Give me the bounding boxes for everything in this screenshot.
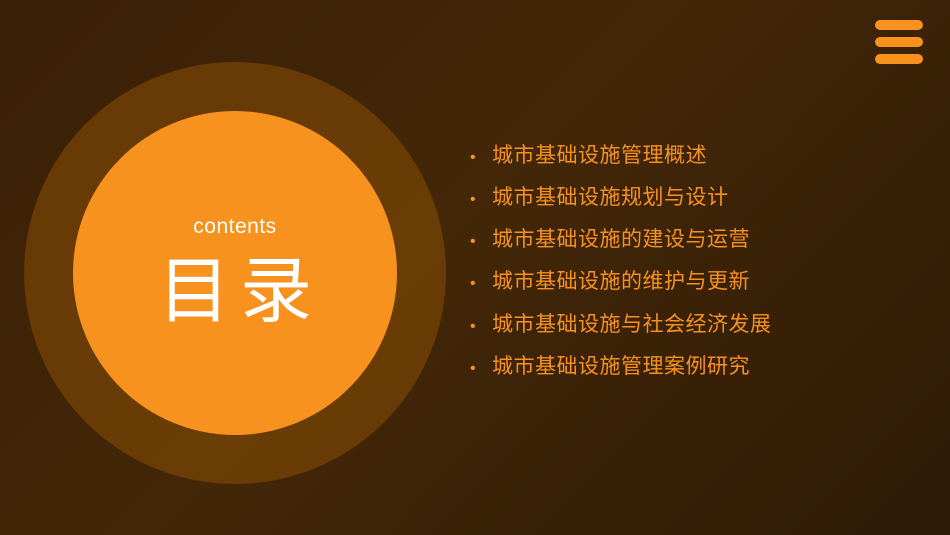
list-item[interactable]: • 城市基础设施与社会经济发展	[470, 313, 910, 337]
hamburger-menu-icon[interactable]	[875, 20, 923, 64]
contents-english-label: contents	[193, 215, 276, 239]
bullet-icon: •	[470, 319, 492, 335]
hamburger-bar-2	[875, 37, 923, 47]
list-item-label: 城市基础设施的维护与更新	[492, 270, 750, 294]
bullet-icon: •	[470, 150, 492, 166]
bullet-icon: •	[470, 361, 492, 377]
bullet-icon: •	[470, 276, 492, 292]
table-of-contents-list: • 城市基础设施管理概述 • 城市基础设施规划与设计 • 城市基础设施的建设与运…	[470, 144, 910, 397]
list-item-label: 城市基础设施管理概述	[492, 144, 707, 168]
list-item-label: 城市基础设施与社会经济发展	[492, 313, 772, 337]
contents-badge: contents 目录	[73, 111, 397, 435]
list-item[interactable]: • 城市基础设施的维护与更新	[470, 270, 910, 294]
bullet-icon: •	[470, 192, 492, 208]
list-item[interactable]: • 城市基础设施管理案例研究	[470, 355, 910, 379]
bullet-icon: •	[470, 234, 492, 250]
hamburger-bar-1	[875, 20, 923, 30]
list-item[interactable]: • 城市基础设施规划与设计	[470, 186, 910, 210]
list-item-label: 城市基础设施管理案例研究	[492, 355, 750, 379]
hamburger-bar-3	[875, 54, 923, 64]
list-item[interactable]: • 城市基础设施管理概述	[470, 144, 910, 168]
slide-canvas: contents 目录 • 城市基础设施管理概述 • 城市基础设施规划与设计 •…	[0, 0, 950, 535]
contents-chinese-label: 目录	[148, 255, 322, 331]
list-item-label: 城市基础设施的建设与运营	[492, 228, 750, 252]
list-item-label: 城市基础设施规划与设计	[492, 186, 729, 210]
list-item[interactable]: • 城市基础设施的建设与运营	[470, 228, 910, 252]
